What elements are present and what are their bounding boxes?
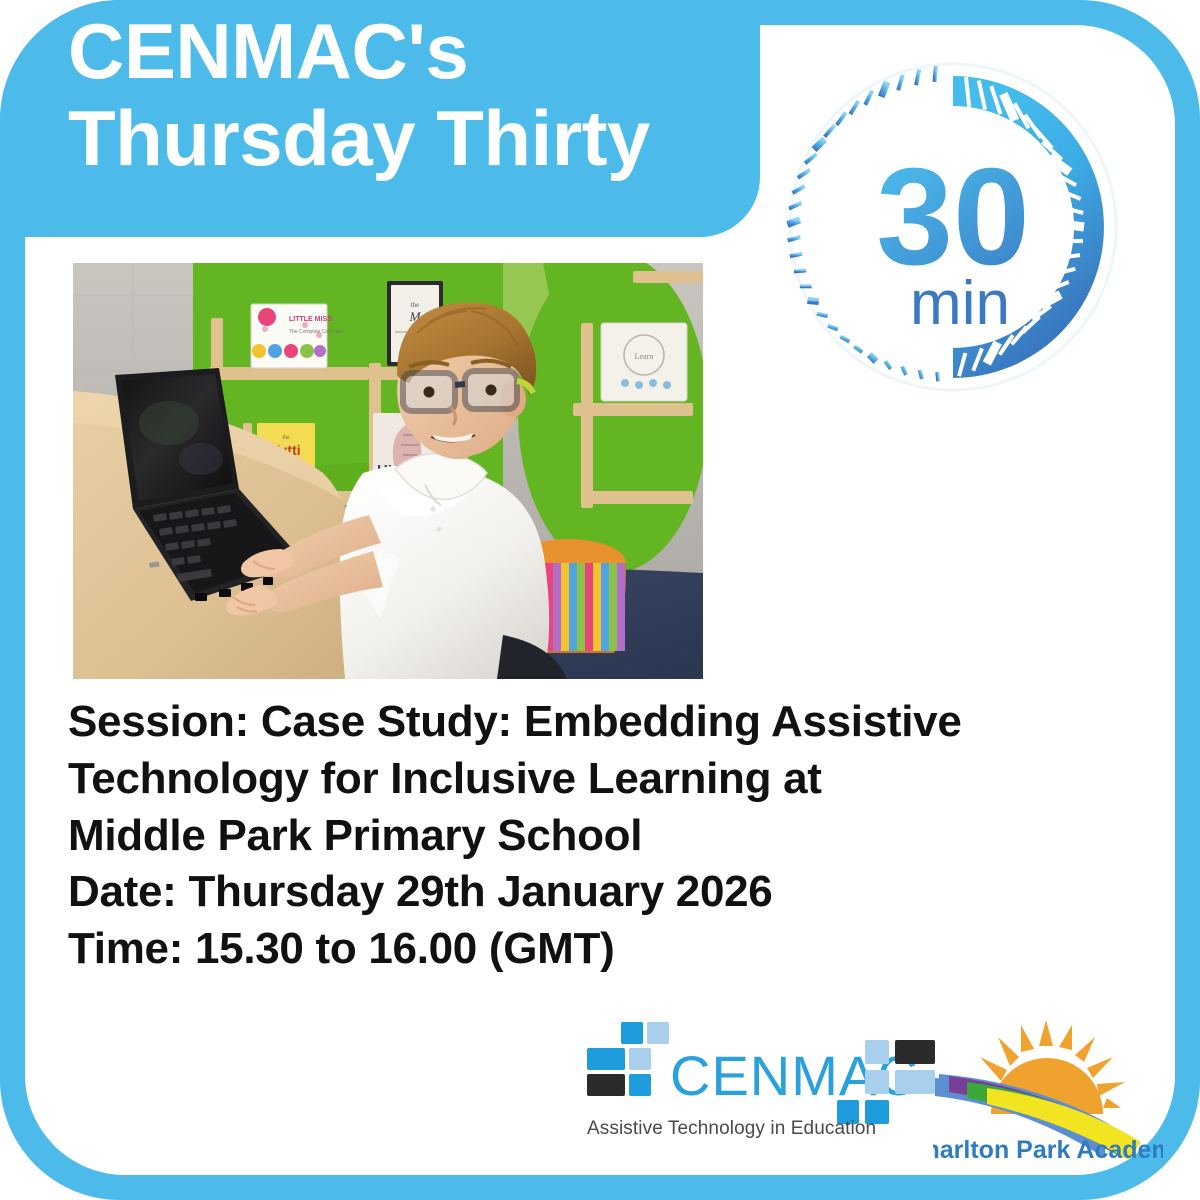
session-details: Session: Case Study: Embedding Assistive…	[68, 694, 1028, 978]
mosaic-square	[895, 1070, 935, 1094]
session-photo: LITTLE MISS The Complete Collection the	[73, 263, 703, 679]
mosaic-square	[647, 1022, 669, 1044]
charlton-park-academy-logo: Charlton Park Academy	[933, 1012, 1163, 1172]
cenmac-logo: CENMAC Assistive Technology in Education	[575, 1020, 945, 1150]
title-banner: CENMAC's Thursday Thirty	[0, 0, 760, 237]
mosaic-square	[629, 1074, 651, 1096]
mosaic-square	[621, 1022, 643, 1044]
thirty-minute-timer-icon: 30 min	[778, 52, 1128, 402]
svg-text:LITTLE MISS: LITTLE MISS	[289, 316, 332, 323]
mosaic-square	[895, 1040, 935, 1064]
page-title: CENMAC's Thursday Thirty	[68, 8, 758, 183]
mosaic-square	[629, 1048, 651, 1070]
svg-text:the: the	[282, 435, 290, 441]
svg-text:the: the	[411, 301, 420, 309]
svg-text:Learn: Learn	[635, 352, 654, 361]
timer-unit: min	[910, 269, 1010, 338]
mosaic-square	[587, 1048, 625, 1070]
mosaic-square	[865, 1070, 889, 1094]
mosaic-square	[865, 1040, 889, 1064]
cenmac-tagline: Assistive Technology in Education	[587, 1119, 876, 1138]
mosaic-square	[587, 1074, 625, 1096]
charlton-park-academy-name: Charlton Park Academy	[933, 1136, 1163, 1164]
poster-canvas: CENMAC's Thursday Thirty	[0, 0, 1200, 1200]
logo-row: CENMAC Assistive Technology in Education	[575, 1012, 1175, 1172]
